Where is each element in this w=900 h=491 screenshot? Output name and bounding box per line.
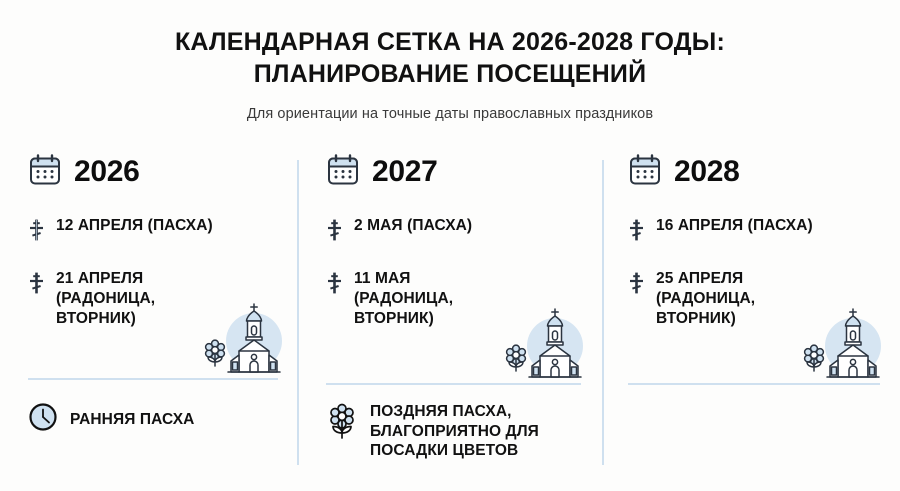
date-entry-text: 25 АПРЕЛЯ (РАДОНИЦА, ВТОРНИК) (656, 269, 755, 328)
column-note-text: ПОЗДНЯЯ ПАСХА, БЛАГОПРИЯТНО ДЛЯ ПОСАДКИ … (370, 402, 539, 461)
date-entry: 11 МАЯ (РАДОНИЦА, ВТОРНИК) (326, 269, 589, 328)
date-entry: 12 АПРЕЛЯ (ПАСХА) (28, 216, 284, 247)
year-header-2027: 2027 (326, 150, 589, 194)
year-header-2026: 2026 (28, 150, 284, 194)
page-subtitle: Для ориентации на точные даты православн… (0, 106, 900, 122)
page-title-line-1: КАЛЕНДАРНАЯ СЕТКА НА 2026-2028 ГОДЫ: (100, 27, 800, 59)
calendar-icon (628, 153, 662, 192)
flower-icon (326, 402, 358, 445)
vertical-divider-1 (297, 160, 299, 465)
date-entry-text: 2 МАЯ (ПАСХА) (354, 216, 472, 236)
date-entries-2028: 16 АПРЕЛЯ (ПАСХА) 25 АПРЕЛЯ (РАДОНИЦА, В… (628, 216, 890, 328)
orthodox-cross-icon (28, 271, 45, 300)
date-entry-text: 16 АПРЕЛЯ (ПАСХА) (656, 216, 813, 236)
orthodox-cross-icon (628, 271, 645, 300)
year-column-2026: 2026 12 (0, 150, 298, 480)
calendar-icon (326, 153, 360, 192)
date-entry-text: 21 АПРЕЛЯ (РАДОНИЦА, ВТОРНИК) (56, 269, 155, 328)
year-header-2028: 2028 (628, 150, 890, 194)
year-label-2027: 2027 (372, 157, 438, 187)
column-note-2026: РАННЯЯ ПАСХА (28, 402, 194, 437)
date-entry: 25 АПРЕЛЯ (РАДОНИЦА, ВТОРНИК) (628, 269, 890, 328)
column-divider-rule (628, 383, 880, 385)
orthodox-cross-icon (28, 218, 45, 247)
column-note-2027: ПОЗДНЯЯ ПАСХА, БЛАГОПРИЯТНО ДЛЯ ПОСАДКИ … (326, 402, 539, 461)
date-entry: 21 АПРЕЛЯ (РАДОНИЦА, ВТОРНИК) (28, 269, 284, 328)
year-columns: 2026 12 (0, 150, 900, 480)
calendar-icon (28, 153, 62, 192)
date-entries-2027: 2 МАЯ (ПАСХА) 11 МАЯ (РАДОНИЦА, ВТОРНИК) (326, 216, 589, 328)
column-note-text: РАННЯЯ ПАСХА (70, 410, 194, 430)
orthodox-cross-icon (326, 271, 343, 300)
page-title: КАЛЕНДАРНАЯ СЕТКА НА 2026-2028 ГОДЫ: ПЛА… (100, 27, 800, 90)
year-column-2027: 2027 2 МАЯ (ПАСХА) (298, 150, 603, 480)
date-entry: 16 АПРЕЛЯ (ПАСХА) (628, 216, 890, 247)
vertical-divider-2 (602, 160, 604, 465)
year-label-2028: 2028 (674, 157, 740, 187)
page-title-line-2: ПЛАНИРОВАНИЕ ПОСЕЩЕНИЙ (100, 59, 800, 91)
orthodox-cross-icon (326, 218, 343, 247)
date-entry-text: 11 МАЯ (РАДОНИЦА, ВТОРНИК) (354, 269, 453, 328)
column-divider-rule (28, 378, 278, 380)
year-label-2026: 2026 (74, 157, 140, 187)
page-header: КАЛЕНДАРНАЯ СЕТКА НА 2026-2028 ГОДЫ: ПЛА… (0, 0, 900, 122)
clock-icon (28, 402, 58, 437)
date-entry-text: 12 АПРЕЛЯ (ПАСХА) (56, 216, 213, 236)
date-entries-2026: 12 АПРЕЛЯ (ПАСХА) 21 АПРЕЛЯ (РАДОНИЦА, В… (28, 216, 284, 328)
column-divider-rule (326, 383, 581, 385)
orthodox-cross-icon (628, 218, 645, 247)
date-entry: 2 МАЯ (ПАСХА) (326, 216, 589, 247)
year-column-2028: 2028 16 АПРЕЛЯ (ПАСХА) (603, 150, 900, 480)
